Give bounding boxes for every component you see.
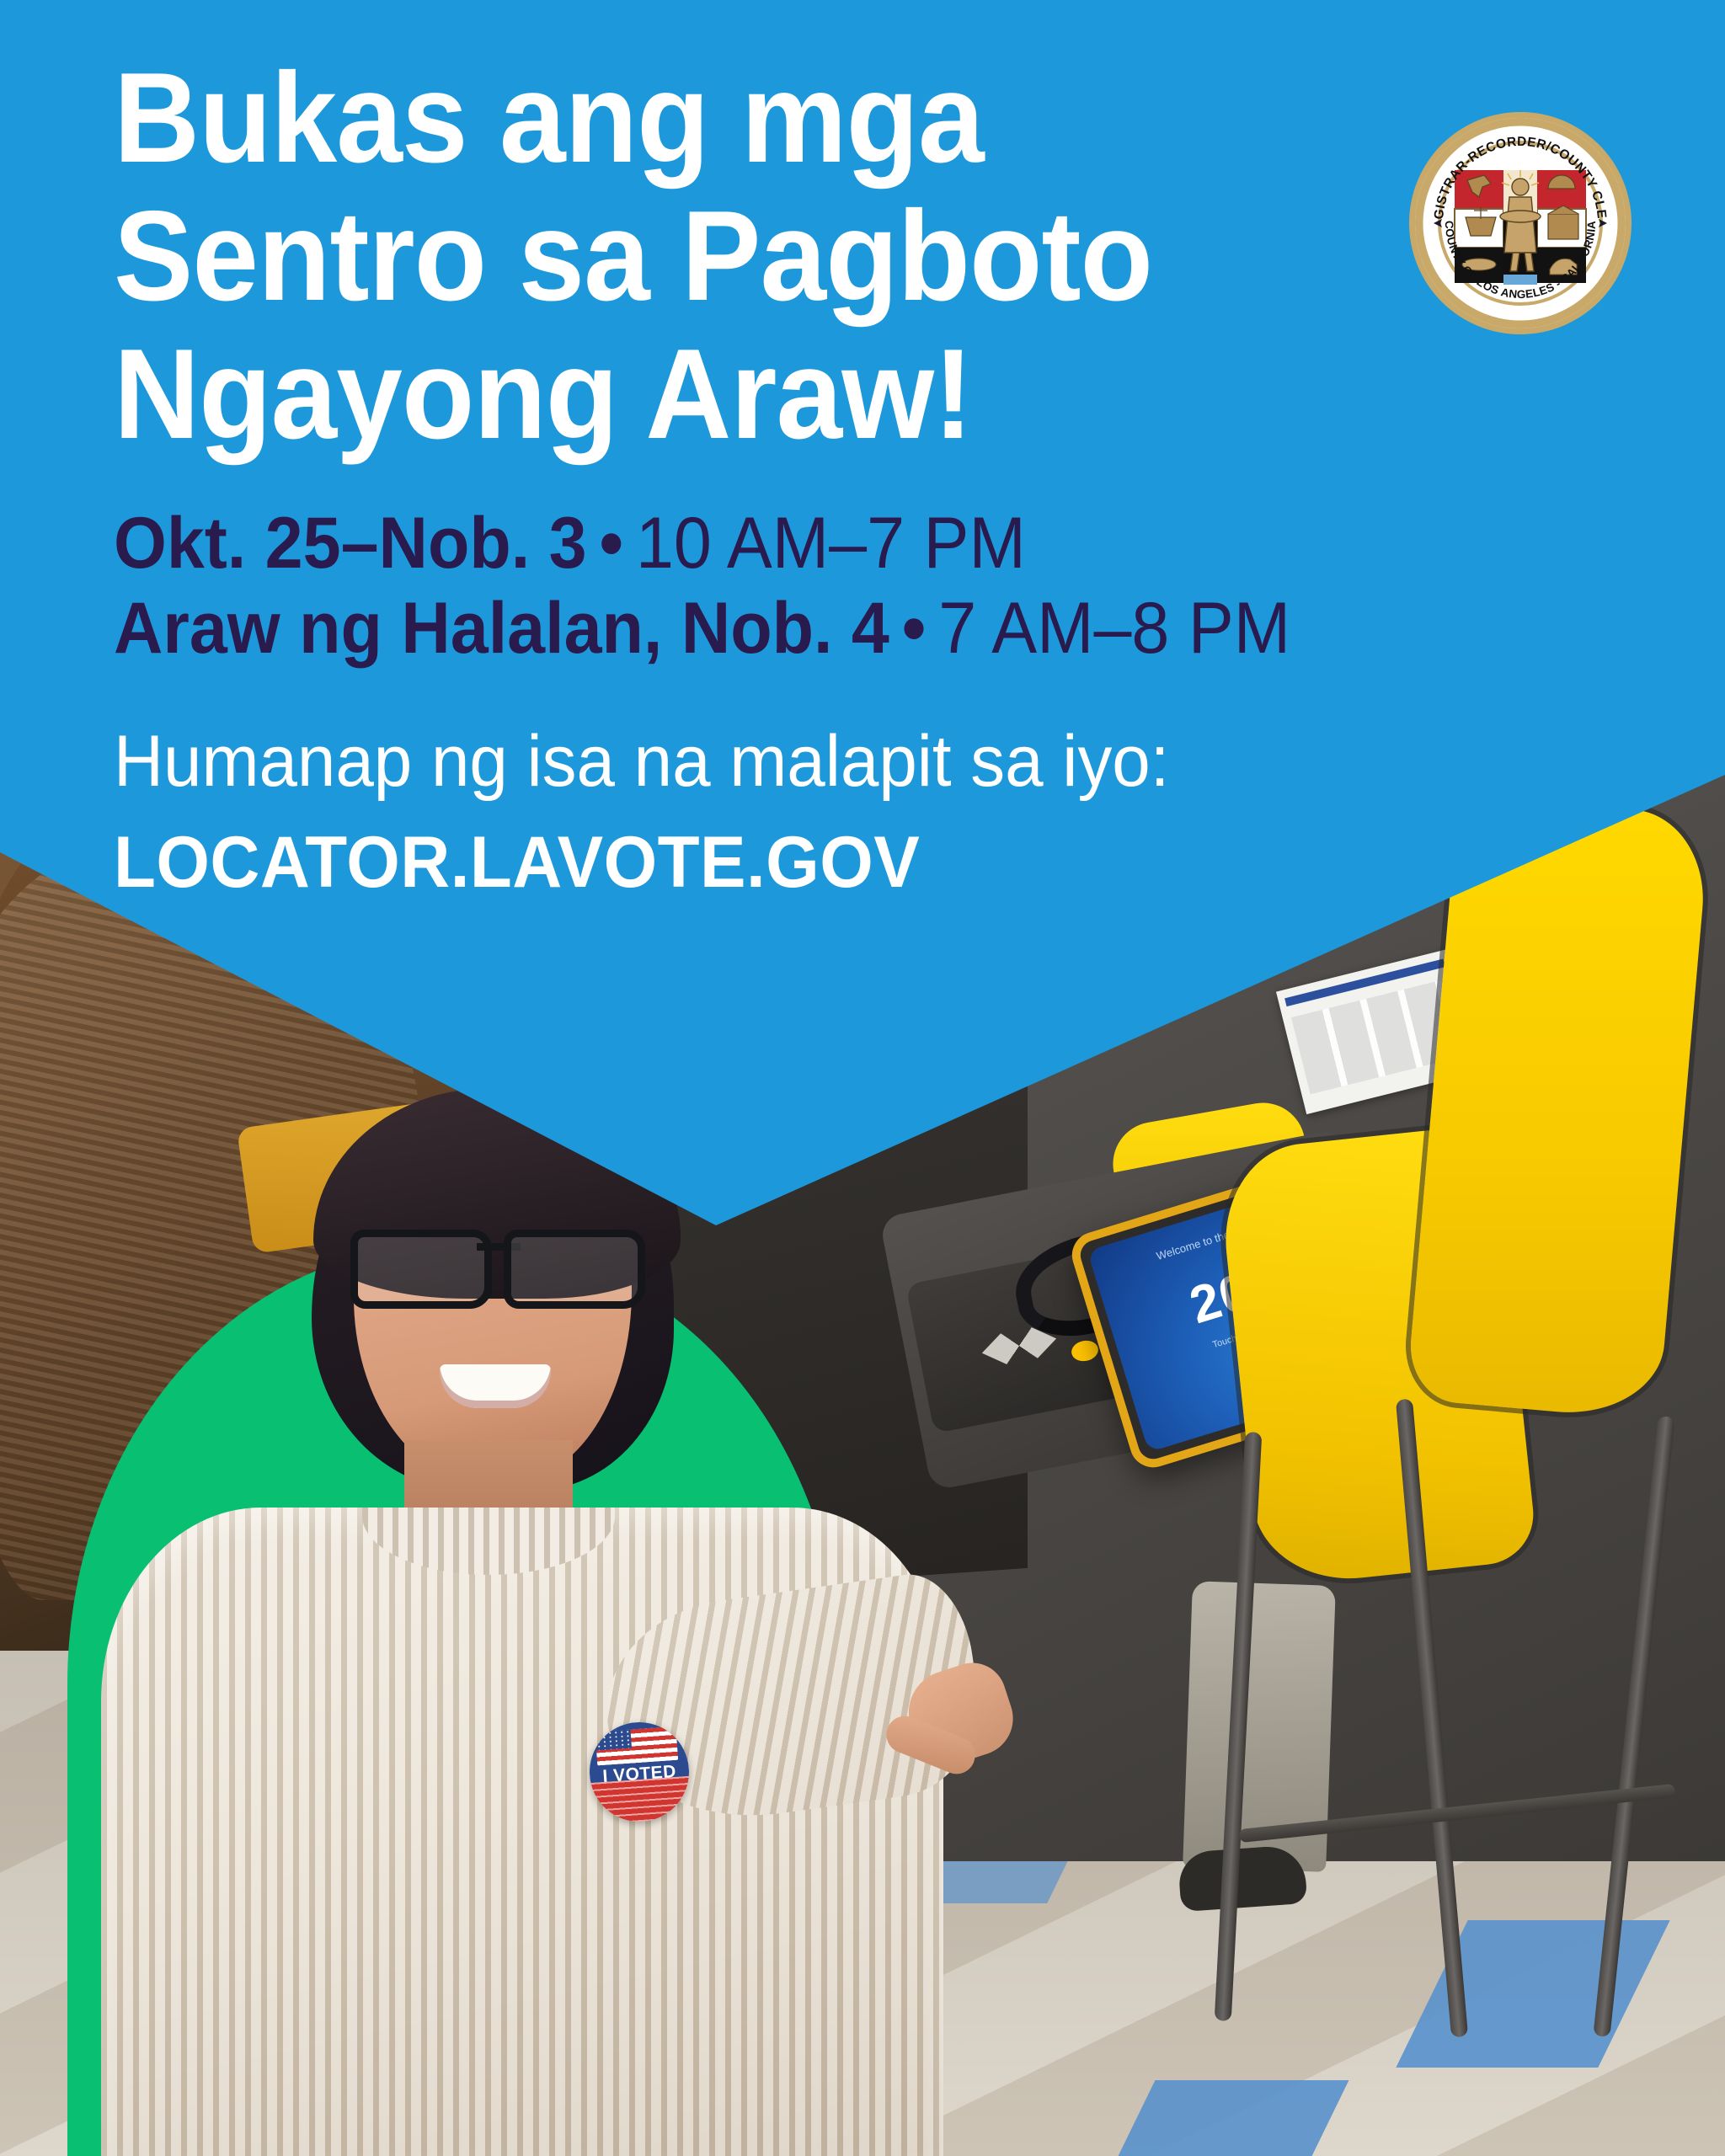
headline-line-2: Sentro sa Pagboto xyxy=(114,187,1273,325)
voter-smile xyxy=(440,1364,551,1408)
schedule-separator: • xyxy=(587,503,636,584)
schedule-row-early-voting: Okt. 25–Nob. 3•10 AM–7 PM xyxy=(114,501,1578,586)
headline-line-1: Bukas ang mga xyxy=(114,49,1273,187)
schedule-block: Okt. 25–Nob. 3•10 AM–7 PM Araw ng Halala… xyxy=(114,501,1672,672)
voter-portrait: I VOTED xyxy=(101,1086,994,2156)
early-voting-dates: Okt. 25–Nob. 3 xyxy=(114,503,587,584)
eyeglass-lens-right xyxy=(504,1230,645,1309)
early-voting-hours: 10 AM–7 PM xyxy=(636,503,1026,584)
county-seal: REGISTRAR-RECORDER/COUNTY CLERK COUNTY O… xyxy=(1415,118,1626,328)
schedule-row-election-day: Araw ng Halalan, Nob. 4•7 AM–8 PM xyxy=(114,586,1578,671)
eyeglasses xyxy=(350,1230,645,1295)
election-day-hours: 7 AM–8 PM xyxy=(938,588,1290,669)
schedule-separator: • xyxy=(889,588,938,669)
page-title: Bukas ang mga Sentro sa Pagboto Ngayong … xyxy=(114,49,1273,463)
election-day-label: Araw ng Halalan, Nob. 4 xyxy=(114,588,889,669)
background-voter-shoe xyxy=(1178,1844,1308,1912)
headline-line-3: Ngayong Araw! xyxy=(114,325,1273,463)
find-center-text: Humanap ng isa na malapit sa iyo: xyxy=(114,720,1169,803)
flag-canton-stars xyxy=(595,1730,632,1751)
voting-centers-poster: Welcome to the November 2024 2024 Touch … xyxy=(0,0,1725,2156)
i-voted-sticker: I VOTED xyxy=(586,1719,692,1825)
eyeglass-lens-left xyxy=(350,1230,492,1309)
locator-url-link[interactable]: LOCATOR.LAVOTE.GOV xyxy=(114,821,920,905)
